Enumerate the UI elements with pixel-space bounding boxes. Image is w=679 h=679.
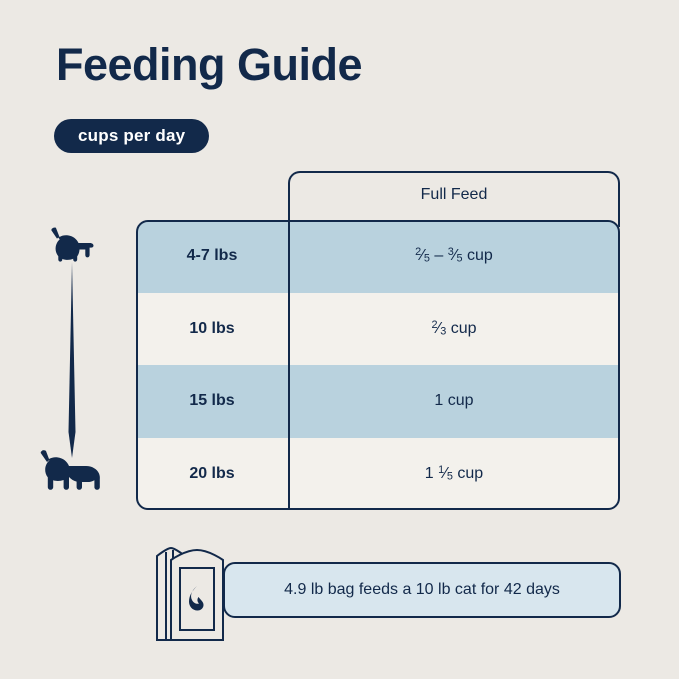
amount-unit: cup: [453, 465, 483, 482]
fraction-denominator-2: 5: [457, 253, 463, 265]
fraction-value-2: 3⁄5: [448, 247, 463, 265]
column-header-full-feed: Full Feed: [290, 186, 618, 204]
table-column-header-card: Full Feed: [288, 171, 620, 227]
page-title: Feeding Guide: [56, 42, 362, 87]
table-rows-container: 4-7 lbs 2⁄5 – 3⁄5 cup 10 lbs 2⁄3 cup 15 …: [136, 220, 620, 510]
table-row: 20 lbs 1 1⁄5 cup: [136, 438, 620, 511]
fraction-denominator: 5: [424, 253, 430, 265]
row-weight-label: 10 lbs: [136, 320, 288, 338]
fraction-denominator: 3: [440, 325, 446, 337]
amount-unit: cup: [446, 320, 476, 337]
feeding-guide-page: Feeding Guide cups per day Full Feed 4-7…: [0, 0, 679, 679]
row-amount-value: 1 1⁄5 cup: [288, 465, 620, 483]
bag-duration-banner: 4.9 lb bag feeds a 10 lb cat for 42 days: [223, 562, 621, 618]
fraction-value: 2⁄5: [415, 247, 430, 265]
row-weight-label: 20 lbs: [136, 465, 288, 483]
subtitle-pill: cups per day: [54, 119, 209, 153]
bag-duration-text: 4.9 lb bag feeds a 10 lb cat for 42 days: [225, 581, 619, 599]
cat-walking-icon: [36, 446, 110, 498]
row-weight-label: 4-7 lbs: [136, 247, 288, 265]
table-column-divider: [288, 220, 290, 510]
feeding-table: 4-7 lbs 2⁄5 – 3⁄5 cup 10 lbs 2⁄3 cup 15 …: [136, 220, 620, 510]
row-weight-label: 15 lbs: [136, 392, 288, 410]
row-amount-value: 1 cup: [288, 392, 620, 410]
table-row: 4-7 lbs 2⁄5 – 3⁄5 cup: [136, 220, 620, 293]
fraction-value: 2⁄3: [431, 320, 446, 338]
table-row: 15 lbs 1 cup: [136, 365, 620, 438]
cat-sitting-icon: [46, 222, 98, 266]
row-amount-value: 2⁄3 cup: [288, 320, 620, 338]
amount-unit: cup: [463, 247, 493, 264]
measuring-line-icon: [64, 262, 80, 458]
row-amount-value: 2⁄5 – 3⁄5 cup: [288, 247, 620, 265]
fraction-value: 1⁄5: [438, 465, 453, 483]
amount-whole-number: 1: [425, 465, 438, 482]
table-row: 10 lbs 2⁄3 cup: [136, 293, 620, 366]
fraction-denominator: 5: [447, 470, 453, 482]
amount-separator: –: [430, 247, 448, 264]
